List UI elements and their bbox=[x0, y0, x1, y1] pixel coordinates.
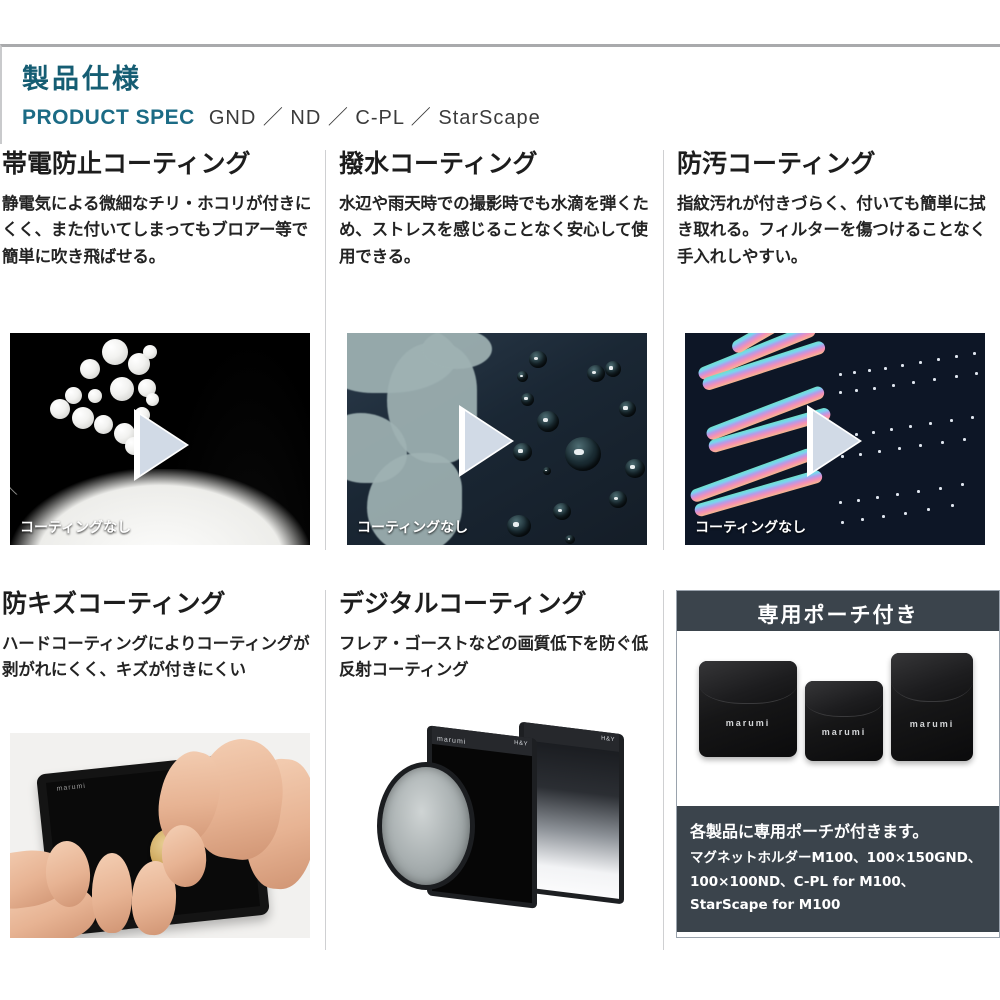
feature-body: 静電気による微細なチリ・ホコリが付きにくく、また付いてしまってもブロアー等で簡単… bbox=[2, 191, 313, 271]
filter-maker-label: H&Y bbox=[514, 740, 528, 748]
pouch-panel-header: 専用ポーチ付き bbox=[677, 591, 999, 631]
feature-title: 帯電防止コーティング bbox=[2, 150, 313, 179]
grid-divider-vertical bbox=[663, 150, 664, 550]
model-list: GND ／ ND ／ C-PL ／ StarScape bbox=[209, 107, 541, 129]
page-title: 製品仕様 bbox=[22, 57, 142, 96]
feature-text: 帯電防止コーティング 静電気による微細なチリ・ホコリが付きにくく、また付いてしま… bbox=[0, 150, 325, 271]
pouch-brand-label: marumi bbox=[891, 719, 973, 729]
pouch-note-line: StarScape for M100 bbox=[690, 894, 986, 918]
photo-caption: コーティングなし bbox=[357, 517, 468, 537]
pouch-medium: marumi bbox=[805, 681, 883, 761]
pouch-flap bbox=[699, 661, 797, 704]
pouch-flap bbox=[805, 681, 883, 717]
feature-text: 撥水コーティング 水辺や雨天時での撮影時でも水滴を弾くため、ストレスを感じること… bbox=[337, 150, 662, 271]
pouch-brand-label: marumi bbox=[805, 727, 883, 737]
product-spec-line: PRODUCT SPECGND ／ ND ／ C-PL ／ StarScape bbox=[22, 101, 541, 130]
feature-photo-anti-stain: コーティングなし bbox=[685, 333, 985, 545]
feature-title: 防キズコーティング bbox=[2, 590, 313, 619]
pouch-flap bbox=[891, 653, 973, 702]
comparison-arrow-icon bbox=[813, 411, 859, 471]
feature-title: 防汚コーティング bbox=[677, 150, 988, 179]
pouch-panel: 専用ポーチ付き marumi marumi marumi bbox=[676, 590, 1000, 938]
feature-title: 撥水コーティング bbox=[339, 150, 650, 179]
page-header: 製品仕様 PRODUCT SPECGND ／ ND ／ C-PL ／ StarS… bbox=[0, 44, 1000, 144]
grid-divider-vertical bbox=[663, 590, 664, 950]
feature-text: 防汚コーティング 指紋汚れが付きづらく、付いても簡単に拭き取れる。フィルターを傷… bbox=[675, 150, 1000, 271]
feature-photo-digital-coating: H&Y H&Y marumi bbox=[369, 710, 649, 935]
comparison-arrow-icon bbox=[140, 415, 186, 475]
feature-body: 水辺や雨天時での撮影時でも水滴を弾くため、ストレスを感じることなく安心して使用で… bbox=[339, 191, 650, 271]
feature-title: デジタルコーティング bbox=[339, 590, 650, 619]
pouch-note-title: 各製品に専用ポーチが付きます。 bbox=[690, 818, 986, 842]
filter-top-bar: H&Y bbox=[524, 722, 619, 752]
feature-body: フレア・ゴーストなどの画質低下を防ぐ低反射コーティング bbox=[339, 631, 650, 684]
feature-text: デジタルコーティング フレア・ゴーストなどの画質低下を防ぐ低反射コーティング bbox=[337, 590, 662, 684]
pouch-note-line: 100×100ND、C-PL for M100、 bbox=[690, 871, 986, 895]
comparison-arrow-icon bbox=[465, 411, 511, 471]
filter-maker-label: H&Y bbox=[601, 736, 615, 744]
pouch-large: marumi bbox=[699, 661, 797, 757]
pouch-note-line: マグネットホルダーM100、100×150GND、 bbox=[690, 847, 986, 871]
feature-grid: 帯電防止コーティング 静電気による微細なチリ・ホコリが付きにくく、また付いてしま… bbox=[0, 150, 1000, 1000]
pouch-images: marumi marumi marumi bbox=[677, 631, 999, 806]
feature-photo-scratch-resistant: marumi bbox=[10, 733, 310, 938]
pouch-note: 各製品に専用ポーチが付きます。 マグネットホルダーM100、100×150GND… bbox=[677, 806, 999, 932]
pouch-card: 専用ポーチ付き marumi marumi marumi bbox=[675, 590, 1000, 1000]
feature-body: 指紋汚れが付きづらく、付いても簡単に拭き取れる。フィルターを傷つけることなく手入… bbox=[677, 191, 988, 271]
filter-brand-label: marumi bbox=[56, 783, 86, 793]
photo-caption: コーティングなし bbox=[695, 517, 806, 537]
cpl-filter bbox=[377, 762, 475, 890]
feature-card-anti-stain: 防汚コーティング 指紋汚れが付きづらく、付いても簡単に拭き取れる。フィルターを傷… bbox=[675, 150, 1000, 580]
feature-card-scratch-resistant: 防キズコーティング ハードコーティングによりコーティングが剥がれにくく、キズが付… bbox=[0, 590, 325, 1000]
feature-card-digital-coating: デジタルコーティング フレア・ゴーストなどの画質低下を防ぐ低反射コーティング H… bbox=[337, 590, 662, 1000]
feature-text: 防キズコーティング ハードコーティングによりコーティングが剥がれにくく、キズが付… bbox=[0, 590, 325, 684]
pouch-tall: marumi bbox=[891, 653, 973, 761]
feature-photo-antistatic: コーティングなし bbox=[10, 333, 310, 545]
feature-card-water-repellent: 撥水コーティング 水辺や雨天時での撮影時でも水滴を弾くため、ストレスを感じること… bbox=[337, 150, 662, 580]
product-spec-page: 製品仕様 PRODUCT SPECGND ／ ND ／ C-PL ／ StarS… bbox=[0, 0, 1000, 1000]
feature-card-antistatic: 帯電防止コーティング 静電気による微細なチリ・ホコリが付きにくく、また付いてしま… bbox=[0, 150, 325, 580]
feature-body: ハードコーティングによりコーティングが剥がれにくく、キズが付きにくい bbox=[2, 631, 313, 684]
photo-caption: コーティングなし bbox=[20, 517, 131, 537]
grid-divider-vertical bbox=[325, 150, 326, 550]
pouch-brand-label: marumi bbox=[699, 718, 797, 728]
feature-photo-water-repellent: コーティングなし bbox=[347, 333, 647, 545]
grid-divider-vertical bbox=[325, 590, 326, 950]
spec-label: PRODUCT SPEC bbox=[22, 106, 195, 129]
pouch-header-label: 専用ポーチ付き bbox=[677, 599, 999, 629]
